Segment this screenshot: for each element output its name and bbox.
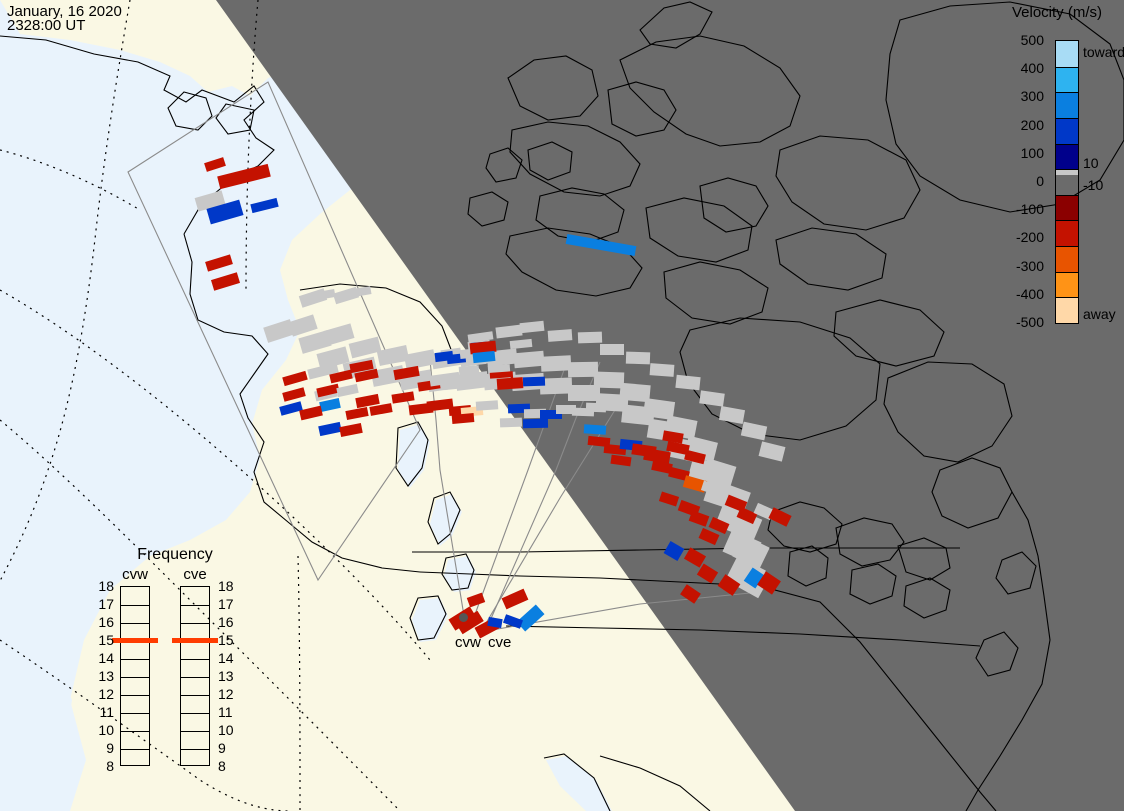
radar-site-dot bbox=[459, 613, 468, 622]
site-label-cvw: cvw bbox=[455, 634, 481, 651]
map-canvas: January, 16 2020 2328:00 UT Velocity (m/… bbox=[0, 0, 1124, 811]
site-label-cve: cve bbox=[488, 634, 511, 651]
radar-site-layer: cvwcve bbox=[0, 0, 1124, 811]
